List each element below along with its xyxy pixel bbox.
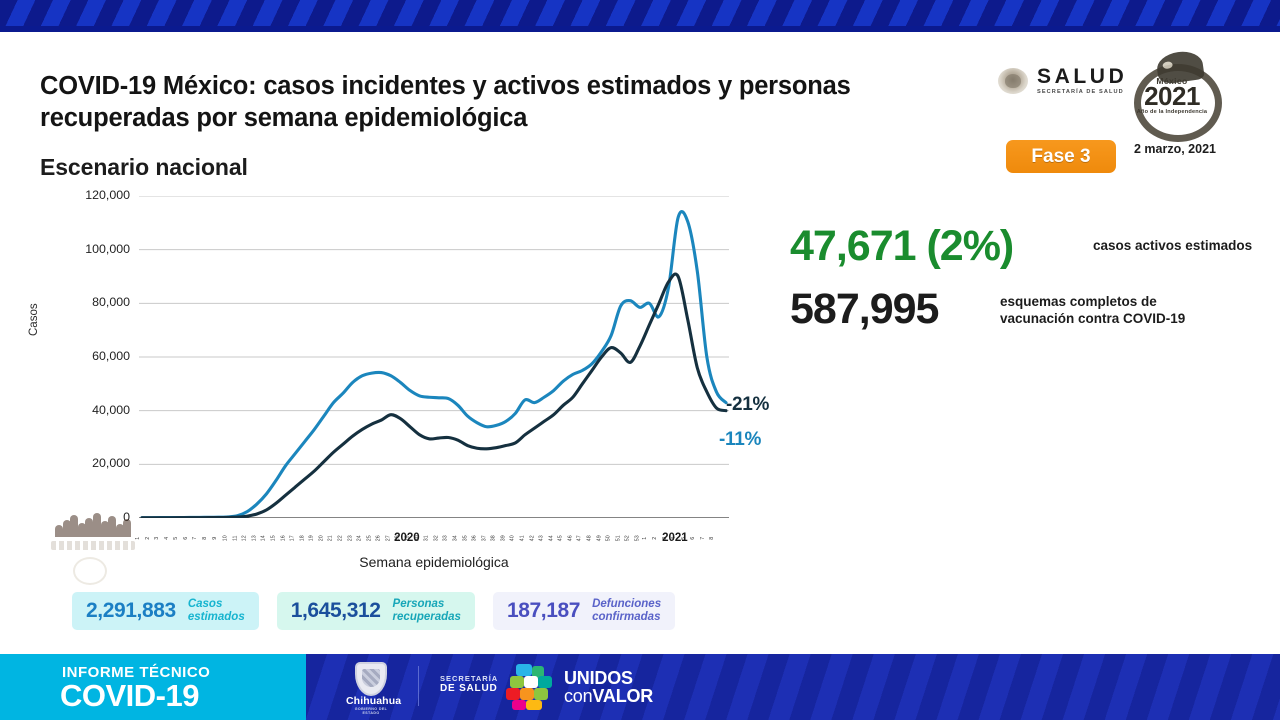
x-tick-label: 25	[367, 535, 372, 541]
x-tick-label: 50	[607, 535, 612, 541]
chihuahua-shield-icon: Chihuahua GOBIERNO DEL ESTADO	[352, 662, 390, 704]
footer-bar: INFORME TÉCNICO COVID-19 Chihuahua GOBIE…	[0, 654, 1280, 720]
x-tick-label: 35	[463, 535, 468, 541]
x-tick-label: 43	[540, 535, 545, 541]
x-tick-label: 6	[184, 537, 189, 540]
x-tick-label: 19	[310, 535, 315, 541]
x-tick-label: 8	[711, 537, 716, 540]
watermark-figure	[55, 525, 63, 537]
page-subtitle: Escenario nacional	[40, 154, 248, 181]
salud-logo-sub: SECRETARÍA DE SALUD	[1037, 90, 1127, 96]
footer-secretaria: SECRETARÍA DE SALUD	[440, 674, 498, 696]
x-axis-year-label: 2020	[394, 532, 420, 544]
footer-right-block: Chihuahua GOBIERNO DEL ESTADO SECRETARÍA…	[306, 654, 1280, 720]
seal-caption-text: Año de la Independencia	[1131, 109, 1213, 115]
y-tick-label: 60,000	[52, 349, 130, 363]
x-tick-label: 42	[530, 535, 535, 541]
x-tick-label: 52	[626, 535, 631, 541]
active-cases-value: 47,671 (2%)	[790, 222, 1013, 271]
x-tick-label: 9	[213, 537, 218, 540]
x-tick-label: 22	[339, 535, 344, 541]
x-tick-label: 10	[224, 535, 229, 541]
chart-svg	[139, 196, 729, 518]
x-tick-label: 11	[233, 535, 238, 541]
x-tick-label: 51	[616, 535, 621, 541]
footer-divider	[418, 666, 419, 706]
summary-box-label: Personasrecuperadas	[393, 598, 461, 625]
mexico-2021-seal-icon: México 2021 Año de la Independencia	[1131, 52, 1213, 132]
y-tick-label: 100,000	[52, 242, 130, 256]
summary-box: 1,645,312Personasrecuperadas	[277, 592, 475, 630]
x-tick-label: 32	[434, 535, 439, 541]
x-tick-label: 34	[454, 535, 459, 541]
chihuahua-map-icon	[502, 664, 556, 710]
y-tick-label: 120,000	[52, 188, 130, 202]
slide-root: COVID-19 México: casos incidentes y acti…	[0, 0, 1280, 720]
x-tick-label: 13	[253, 535, 258, 541]
y-tick-label: 80,000	[52, 295, 130, 309]
x-tick-label: 41	[521, 535, 526, 541]
footer-secretaria-line2: DE SALUD	[440, 683, 498, 696]
x-tick-label: 39	[501, 535, 506, 541]
x-tick-label: 44	[549, 535, 554, 541]
x-tick-label: 33	[444, 535, 449, 541]
watermark-figure	[93, 513, 101, 537]
footer-state-name: Chihuahua	[346, 695, 396, 707]
map-tile	[512, 700, 526, 710]
salud-logo: SALUD SECRETARÍA DE SALUD	[996, 66, 1127, 96]
x-tick-label: 2	[653, 537, 658, 540]
x-tick-label: 7	[701, 537, 706, 540]
map-tile	[526, 700, 542, 710]
x-tick-label: 5	[174, 537, 179, 540]
watermark-figure	[70, 515, 78, 537]
x-tick-label: 17	[291, 535, 296, 541]
y-tick-label: 40,000	[52, 403, 130, 417]
report-date: 2 marzo, 2021	[1134, 141, 1224, 157]
summary-boxes: 2,291,883Casosestimados1,645,312Personas…	[72, 592, 675, 630]
map-tile	[516, 664, 532, 676]
x-tick-label: 36	[473, 535, 478, 541]
x-tick-label: 20	[320, 535, 325, 541]
chart-plot-area	[139, 196, 729, 518]
summary-box: 2,291,883Casosestimados	[72, 592, 259, 630]
footer-left-block: INFORME TÉCNICO COVID-19	[0, 654, 306, 720]
x-tick-label: 15	[272, 535, 277, 541]
watermark-figure	[123, 519, 131, 537]
x-tick-label: 48	[588, 535, 593, 541]
chart-x-axis-title: Semana epidemiológica	[139, 554, 729, 570]
chart-y-axis-ticks: 020,00040,00060,00080,000100,000120,000	[34, 196, 130, 526]
x-tick-label: 16	[281, 535, 286, 541]
seal-year-text: 2021	[1131, 83, 1213, 109]
x-tick-label: 45	[559, 535, 564, 541]
vaccination-value: 587,995	[790, 285, 938, 334]
x-tick-label: 1	[644, 537, 649, 540]
y-tick-label: 20,000	[52, 456, 130, 470]
x-tick-label: 3	[155, 537, 160, 540]
x-tick-label: 18	[300, 535, 305, 541]
vaccination-label: esquemas completos de vacunación contra …	[1000, 294, 1230, 328]
x-tick-label: 6	[691, 537, 696, 540]
epidemic-curve-chart: Casos 020,00040,00060,00080,000100,00012…	[34, 196, 734, 586]
top-banner-base	[0, 26, 1280, 32]
chart-x-axis-ticks: 1234567891011121314151617181920212223242…	[139, 518, 729, 544]
watermark-figure	[108, 516, 116, 537]
x-tick-label: 40	[511, 535, 516, 541]
fase-badge: Fase 3	[1006, 140, 1116, 173]
x-tick-label: 31	[425, 535, 430, 541]
x-tick-label: 37	[482, 535, 487, 541]
summary-box-label: Defuncionesconfirmadas	[592, 598, 661, 625]
summary-box: 187,187Defuncionesconfirmadas	[493, 592, 675, 630]
slogan-valor: VALOR	[592, 686, 653, 706]
map-tile	[524, 676, 538, 688]
x-tick-label: 47	[578, 535, 583, 541]
salud-logo-name: SALUD	[1037, 66, 1127, 87]
slogan-con: con	[564, 686, 592, 706]
footer-state-sub: GOBIERNO DEL ESTADO	[346, 707, 396, 715]
slogan-line2: conVALOR	[564, 686, 653, 707]
page-title: COVID-19 México: casos incidentes y acti…	[40, 70, 920, 134]
x-tick-label: 53	[635, 535, 640, 541]
x-tick-label: 14	[262, 535, 267, 541]
x-tick-label: 23	[348, 535, 353, 541]
x-axis-year-label: 2021	[662, 532, 688, 544]
map-tile	[534, 688, 548, 700]
summary-box-value: 187,187	[507, 599, 580, 623]
x-tick-label: 2	[146, 537, 151, 540]
summary-box-value: 2,291,883	[86, 599, 176, 623]
x-tick-label: 7	[194, 537, 199, 540]
map-tile	[538, 676, 552, 688]
x-tick-label: 21	[329, 535, 334, 541]
summary-box-label: Casosestimados	[188, 598, 245, 625]
annotation-change-active: -11%	[719, 429, 761, 451]
crowd-watermark-icon	[47, 505, 139, 583]
summary-box-value: 1,645,312	[291, 599, 381, 623]
x-tick-label: 8	[203, 537, 208, 540]
x-tick-label: 4	[165, 537, 170, 540]
top-striped-banner	[0, 0, 1280, 26]
x-tick-label: 49	[597, 535, 602, 541]
x-tick-label: 26	[377, 535, 382, 541]
unidos-con-valor-logo: UNIDOS conVALOR	[502, 664, 902, 712]
x-tick-label: 38	[492, 535, 497, 541]
x-tick-label: 24	[358, 535, 363, 541]
footer-secretaria-line1: SECRETARÍA	[440, 674, 498, 683]
x-tick-label: 12	[243, 535, 248, 541]
map-tile	[506, 688, 520, 700]
map-tile	[520, 688, 534, 700]
footer-covid-text: COVID-19	[60, 680, 199, 711]
map-tile	[510, 676, 524, 688]
x-tick-label: 27	[387, 535, 392, 541]
mexico-coat-of-arms-icon	[996, 66, 1030, 96]
annotation-change-recovered: -21%	[726, 394, 769, 416]
x-tick-label: 46	[568, 535, 573, 541]
active-cases-label: casos activos estimados	[1093, 238, 1263, 255]
